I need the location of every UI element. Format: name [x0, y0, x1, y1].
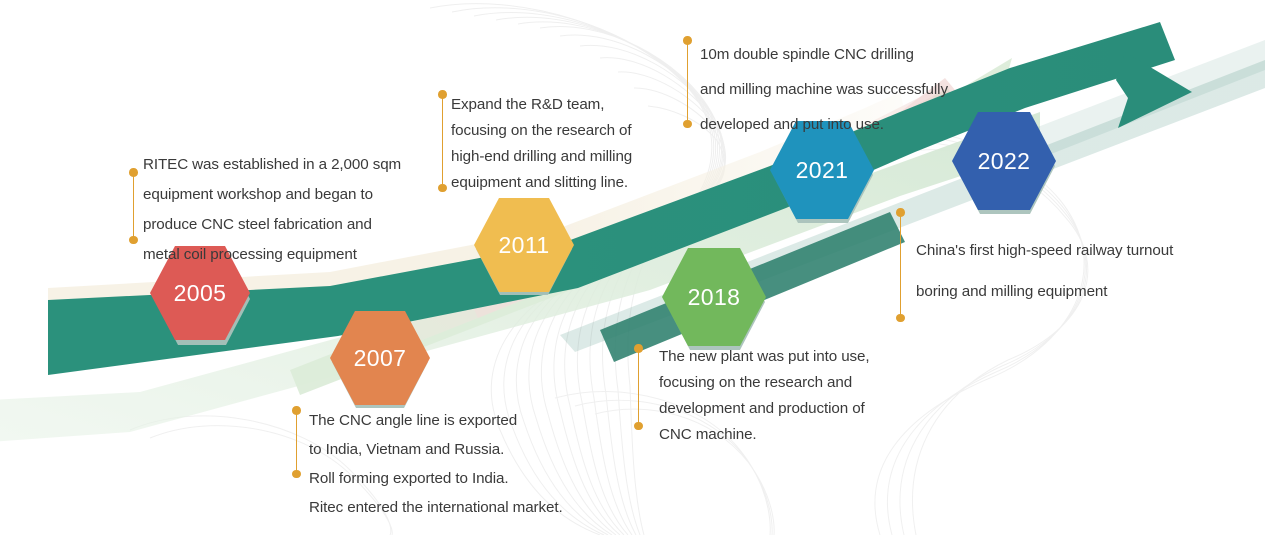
text-line: The new plant was put into use,	[659, 344, 870, 370]
connector-dot-top	[292, 406, 301, 415]
connector-2011	[438, 90, 447, 192]
milestone-description-2021: 10m double spindle CNC drilling and mill…	[700, 37, 948, 142]
connector-dot-top	[129, 168, 138, 177]
text-line: focusing on the research of	[451, 118, 632, 144]
connector-stem	[900, 212, 902, 318]
text-line: equipment workshop and began to	[143, 180, 401, 210]
text-line: RITEC was established in a 2,000 sqm	[143, 150, 401, 180]
text-line: China's first high-speed railway turnout	[916, 230, 1173, 271]
text-line: and milling machine was successfully	[700, 72, 948, 107]
connector-dot-bottom	[683, 120, 692, 129]
connector-dot-bottom	[634, 422, 643, 431]
hexagon-shape-2011	[474, 198, 574, 292]
timeline-infographic: 2005 2007 2011 2018 2021 2022	[0, 0, 1265, 535]
text-line: boring and milling equipment	[916, 271, 1173, 312]
connector-dot-bottom	[292, 470, 301, 479]
connector-dot-top	[683, 36, 692, 45]
text-line: Ritec entered the international market.	[309, 493, 563, 522]
text-line: Expand the R&D team,	[451, 92, 632, 118]
text-line: development and production of	[659, 396, 870, 422]
connector-dot-top	[438, 90, 447, 99]
milestone-hexagon-2018[interactable]: 2018	[662, 248, 766, 346]
text-line: equipment and slitting line.	[451, 170, 632, 196]
connector-stem	[687, 40, 689, 124]
connector-2007	[292, 406, 301, 478]
text-line: high-end drilling and milling	[451, 144, 632, 170]
connector-stem	[442, 94, 444, 188]
milestone-description-2018: The new plant was put into use, focusing…	[659, 344, 870, 448]
milestone-hexagon-2011[interactable]: 2011	[474, 198, 574, 292]
connector-dot-top	[634, 344, 643, 353]
text-line: CNC machine.	[659, 422, 870, 448]
text-line: focusing on the research and	[659, 370, 870, 396]
connector-2018	[634, 344, 643, 430]
connector-2022	[896, 208, 905, 322]
connector-dot-bottom	[129, 236, 138, 245]
milestone-description-2007: The CNC angle line is exported to India,…	[309, 406, 563, 522]
text-line: The CNC angle line is exported	[309, 406, 563, 435]
hexagon-shape-2007	[330, 311, 430, 405]
connector-stem	[296, 410, 298, 474]
connector-2021	[683, 36, 692, 128]
connector-dot-bottom	[896, 314, 905, 323]
text-line: developed and put into use.	[700, 107, 948, 142]
connector-dot-bottom	[438, 184, 447, 193]
connector-stem	[133, 172, 135, 240]
milestone-description-2011: Expand the R&D team, focusing on the res…	[451, 92, 632, 196]
text-line: 10m double spindle CNC drilling	[700, 37, 948, 72]
milestone-hexagon-2007[interactable]: 2007	[330, 311, 430, 405]
connector-dot-top	[896, 208, 905, 217]
hexagon-shape-2022	[952, 112, 1056, 210]
connector-2005	[129, 168, 138, 244]
text-line: Roll forming exported to India.	[309, 464, 563, 493]
hexagon-shape-2018	[662, 248, 766, 346]
connector-stem	[638, 348, 640, 426]
milestone-description-2022: China's first high-speed railway turnout…	[916, 230, 1173, 312]
milestone-description-2005: RITEC was established in a 2,000 sqm equ…	[143, 150, 401, 270]
text-line: metal coil processing equipment	[143, 240, 401, 270]
text-line: produce CNC steel fabrication and	[143, 210, 401, 240]
text-line: to India, Vietnam and Russia.	[309, 435, 563, 464]
milestone-hexagon-2022[interactable]: 2022	[952, 112, 1056, 210]
